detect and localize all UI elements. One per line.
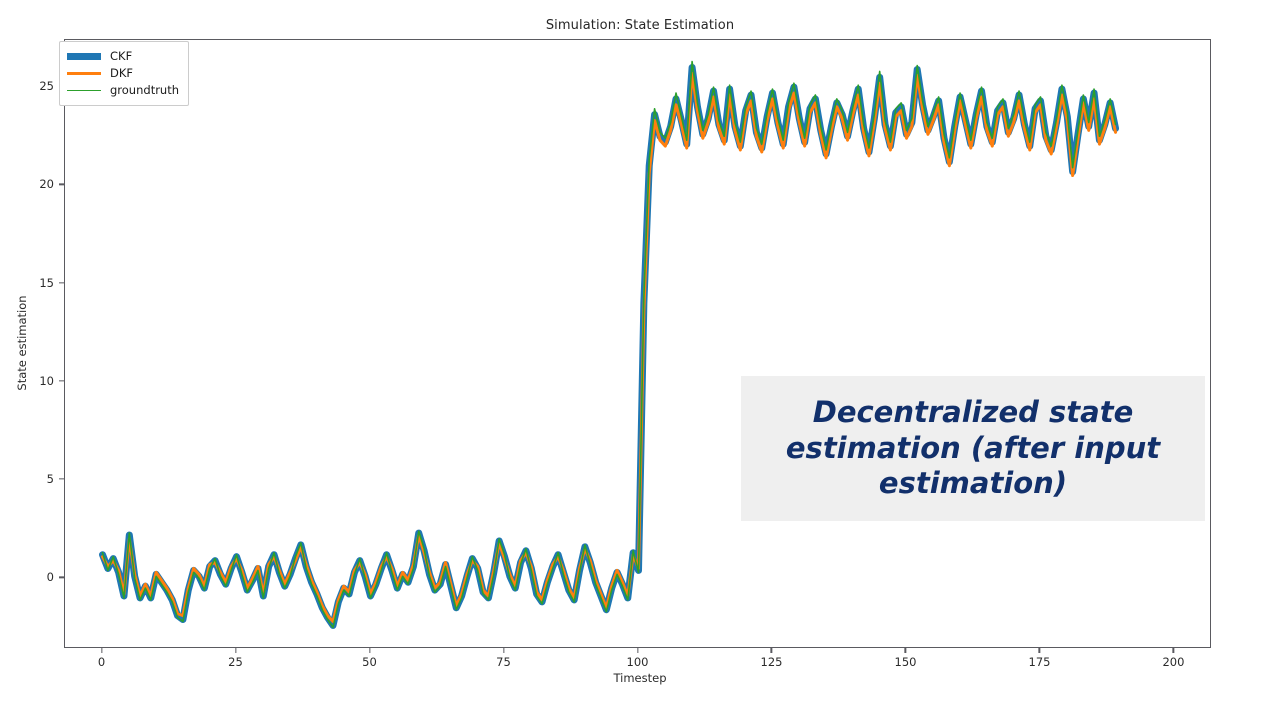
x-tick-label: 125 [761, 655, 783, 669]
legend-label-dkf: DKF [110, 68, 133, 80]
x-tick-label: 100 [627, 655, 649, 669]
x-tick-label: 25 [228, 655, 243, 669]
legend-swatch-ckf-icon [67, 53, 101, 60]
y-tick-label: 5 [20, 472, 54, 486]
x-tick-label: 200 [1162, 655, 1184, 669]
y-tick-label: 0 [20, 570, 54, 584]
legend-label-groundtruth: groundtruth [110, 85, 179, 97]
y-tick-label: 25 [20, 79, 54, 93]
x-tick-label: 175 [1029, 655, 1051, 669]
y-tick-label: 15 [20, 276, 54, 290]
legend-label-ckf: CKF [110, 51, 132, 63]
series-line-ckf [103, 68, 1116, 626]
legend-swatch-groundtruth-icon [67, 90, 101, 91]
legend-swatch-dkf-icon [67, 72, 101, 75]
legend-item-dkf: DKF [67, 65, 179, 82]
y-tick-label: 10 [20, 374, 54, 388]
x-axis-label: Timestep [0, 671, 1280, 685]
plot-area [64, 39, 1211, 648]
x-tick-label: 75 [496, 655, 511, 669]
series-lines [65, 40, 1212, 649]
chart-legend: CKF DKF groundtruth [59, 41, 189, 106]
series-line-dkf [103, 73, 1116, 621]
y-tick-label: 20 [20, 177, 54, 191]
x-tick-label: 150 [895, 655, 917, 669]
annotation-callout: Decentralized state estimation (after in… [741, 376, 1205, 521]
chart-title: Simulation: State Estimation [0, 18, 1280, 33]
x-tick-label: 0 [98, 655, 105, 669]
series-line-groundtruth [103, 62, 1116, 628]
legend-item-ckf: CKF [67, 48, 179, 65]
x-tick-label: 50 [362, 655, 377, 669]
legend-item-groundtruth: groundtruth [67, 82, 179, 99]
chart-canvas: Simulation: State Estimation State estim… [0, 0, 1280, 720]
annotation-text: Decentralized state estimation (after in… [767, 395, 1179, 501]
